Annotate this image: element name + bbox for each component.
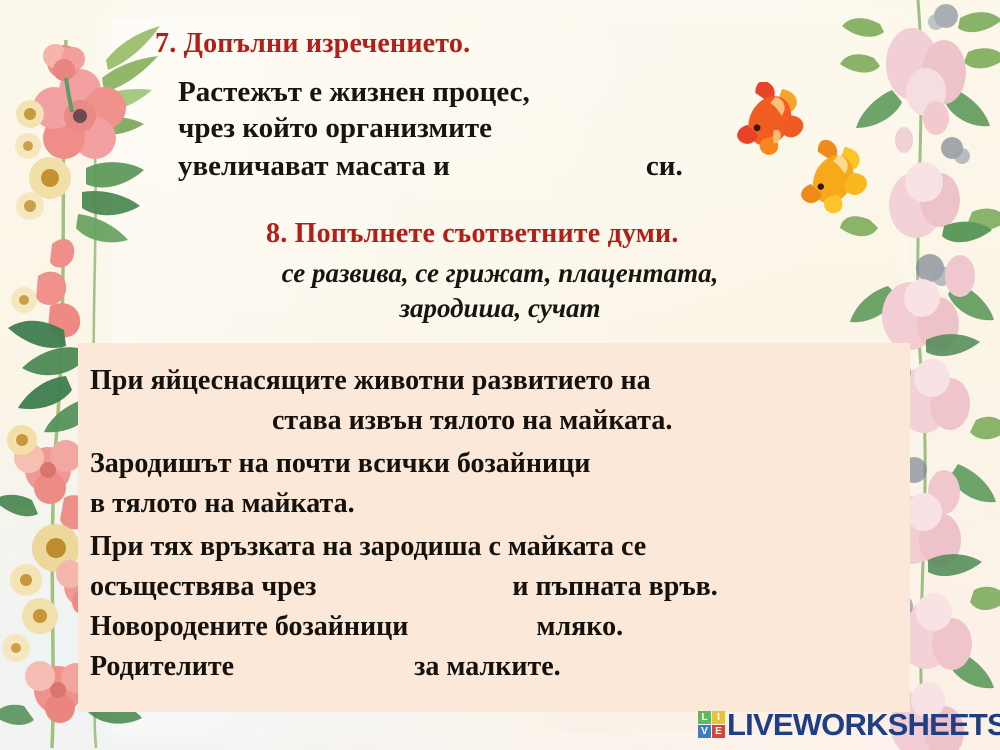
- answer-line-1: При яйцеснасящите животни развитието на: [90, 365, 651, 397]
- word-bank-line-2: зародиша, сучат: [78, 293, 922, 324]
- answer-line-2: става извън тялото на майката.: [272, 405, 672, 437]
- exercise-7-line-3-text: увеличават масата и: [178, 150, 450, 182]
- answer-line-5: При тях връзката на зародиша с майката с…: [90, 531, 646, 563]
- answer-line-7-text: Новородените бозайници: [90, 611, 408, 642]
- answer-line-6-tail: и пъпната връв.: [512, 571, 717, 602]
- exercise-7-sentence-line-3: увеличават масата иси.: [178, 150, 683, 183]
- answer-line-6: осъществява чрези пъпната връв.: [90, 571, 718, 603]
- answer-line-7-tail: мляко.: [536, 611, 623, 642]
- liveworksheets-wordmark: LIVEWORKSHEETS: [727, 709, 1000, 740]
- answer-line-3: Зародишът на почти всички бозайници: [90, 448, 590, 480]
- exercise-7-heading: 7. Допълни изречението.: [155, 28, 470, 60]
- answer-line-6-text: осъществява чрез: [90, 571, 316, 602]
- liveworksheets-logo[interactable]: L I V E LIVEWORKSHEETS: [698, 709, 1000, 740]
- logo-tile-l: L: [698, 711, 711, 724]
- answer-line-8-tail: за малките.: [414, 651, 561, 682]
- liveworksheets-logo-tiles: L I V E: [698, 711, 725, 738]
- exercise-7-sentence-line-2: чрез който организмите: [178, 112, 492, 145]
- logo-tile-v: V: [698, 725, 711, 738]
- fill-in-the-blanks-panel: При яйцеснасящите животни развитието на …: [78, 343, 910, 712]
- word-bank-line-1: се развива, се грижат, плацентата,: [78, 258, 922, 289]
- exercise-7-line-3-tail: си.: [646, 150, 683, 182]
- answer-line-8-text: Родителите: [90, 651, 234, 682]
- answer-line-7: Новородените бозайницимляко.: [90, 611, 623, 643]
- exercise-7-sentence-line-1: Растежът е жизнен процес,: [178, 76, 530, 109]
- logo-tile-i: I: [712, 711, 725, 724]
- logo-tile-e: E: [712, 725, 725, 738]
- worksheet-page: 7. Допълни изречението. Растежът е жизне…: [0, 0, 1000, 750]
- answer-line-8: Родителитеза малките.: [90, 651, 561, 683]
- answer-line-4: в тялото на майката.: [90, 488, 355, 520]
- exercise-8-heading: 8. Попълнете съответните думи.: [266, 218, 679, 250]
